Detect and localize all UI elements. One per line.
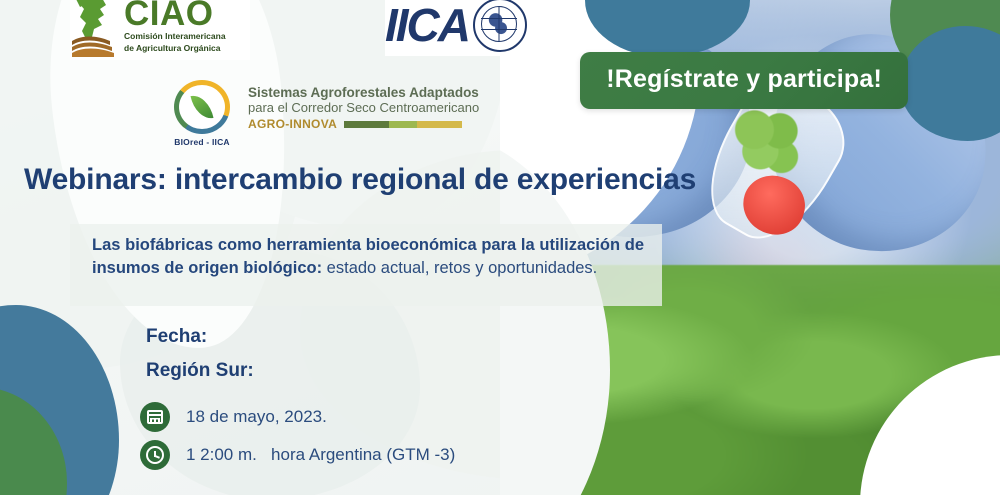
subtitle-text: Las biofábricas como herramienta bioecon… bbox=[92, 234, 644, 280]
leaf-icon bbox=[190, 92, 213, 121]
globe-graphic bbox=[481, 6, 517, 42]
biored-logo: BIOred - IICA bbox=[152, 80, 252, 138]
webinar-promo-banner: CIAO Comisión Interamericana de Agricult… bbox=[0, 0, 1000, 495]
iica-logo: IICA bbox=[385, 0, 570, 56]
ciao-acronym: CIAO bbox=[124, 0, 226, 29]
agro-innova-line2: para el Corredor Seco Centroamericano bbox=[248, 100, 479, 115]
ciao-logo-text: CIAO Comisión Interamericana de Agricult… bbox=[124, 0, 226, 53]
biored-logo-label: BIOred - IICA bbox=[152, 137, 252, 147]
clock-glyph bbox=[146, 446, 164, 464]
agro-innova-line1: Sistemas Agroforestales Adaptados bbox=[248, 85, 479, 100]
agro-innova-line3: AGRO-INNOVA bbox=[248, 117, 337, 131]
time-row: 1 2:00 m. hora Argentina (GTM -3) bbox=[140, 440, 455, 470]
globe-seal-icon bbox=[473, 0, 527, 52]
ciao-subtitle-line1: Comisión Interamericana bbox=[124, 31, 226, 41]
date-value: 18 de mayo, 2023. bbox=[186, 407, 327, 427]
agro-innova-brand-row: AGRO-INNOVA bbox=[248, 117, 479, 131]
iica-acronym: IICA bbox=[385, 2, 469, 48]
ciao-subtitle-line2: de Agricultura Orgánica bbox=[124, 43, 226, 53]
agro-innova-gradient-bar bbox=[344, 121, 462, 128]
date-row: 18 de mayo, 2023. bbox=[140, 402, 327, 432]
subtitle-regular: estado actual, retos y oportunidades. bbox=[322, 259, 597, 277]
fecha-label: Fecha: bbox=[146, 326, 207, 348]
calendar-glyph bbox=[147, 410, 163, 424]
clock-icon bbox=[140, 440, 170, 470]
ciao-logo: CIAO Comisión Interamericana de Agricult… bbox=[70, 0, 250, 60]
americas-map-icon bbox=[70, 0, 122, 57]
agro-innova-logo: Sistemas Agroforestales Adaptados para e… bbox=[248, 85, 479, 131]
register-button[interactable]: !Regístrate y participa! bbox=[580, 52, 908, 109]
region-label: Región Sur: bbox=[146, 360, 254, 382]
time-value: 1 2:00 m. hora Argentina (GTM -3) bbox=[186, 445, 455, 465]
page-title: Webinars: intercambio regional de experi… bbox=[24, 163, 696, 197]
calendar-icon bbox=[140, 402, 170, 432]
biored-ring-icon bbox=[174, 80, 230, 134]
